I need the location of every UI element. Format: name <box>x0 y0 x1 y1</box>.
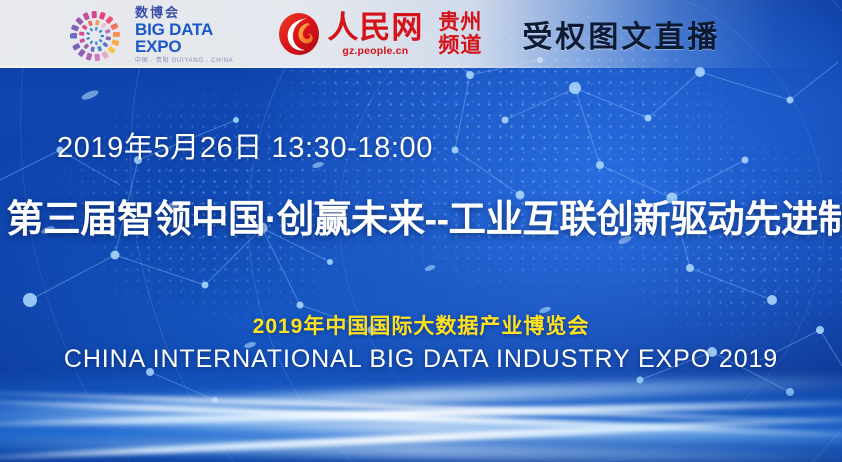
expo-logo-en-line1: BIG DATA <box>135 21 233 38</box>
big-data-expo-spiral-icon <box>64 5 126 63</box>
header-logos: 数博会 BIG DATA EXPO 中国 · 贵阳 GUIYANG · CHIN… <box>0 0 720 68</box>
expo-logo-location: 中国 · 贵阳 GUIYANG · CHINA <box>135 58 233 64</box>
event-datetime: 2019年5月26日 13:30-18:00 <box>57 124 433 166</box>
expo-logo-cn-name: 数博会 <box>135 6 233 19</box>
big-data-expo-logo[interactable]: 数博会 BIG DATA EXPO 中国 · 贵阳 GUIYANG · CHIN… <box>64 4 233 65</box>
channel-line1: 贵州 <box>438 11 482 34</box>
expo-subtitle-en: CHINA INTERNATIONAL BIG DATA INDUSTRY EX… <box>0 345 842 374</box>
peoples-daily-swirl-icon <box>277 11 321 57</box>
authorized-live-label: 受权图文直播 <box>522 12 720 56</box>
forum-title: 第三届智领中国·创赢未来--工业互联创新驱动先进制造论坛 <box>6 188 835 243</box>
channel-line2: 频道 <box>438 34 482 57</box>
peoples-daily-wordmark: 人民网 <box>327 12 423 43</box>
expo-subtitle-cn: 2019年中国国际大数据产业博览会 <box>0 310 842 340</box>
event-poster: 数博会 BIG DATA EXPO 中国 · 贵阳 GUIYANG · CHIN… <box>0 0 842 462</box>
guizhou-channel-label: 贵州 频道 <box>438 11 482 56</box>
expo-logo-en-line2: EXPO <box>135 38 233 55</box>
peoples-daily-url: gz.people.cn <box>327 45 423 57</box>
peoples-daily-logo[interactable]: 人民网 gz.people.cn 贵州 频道 <box>277 11 482 57</box>
